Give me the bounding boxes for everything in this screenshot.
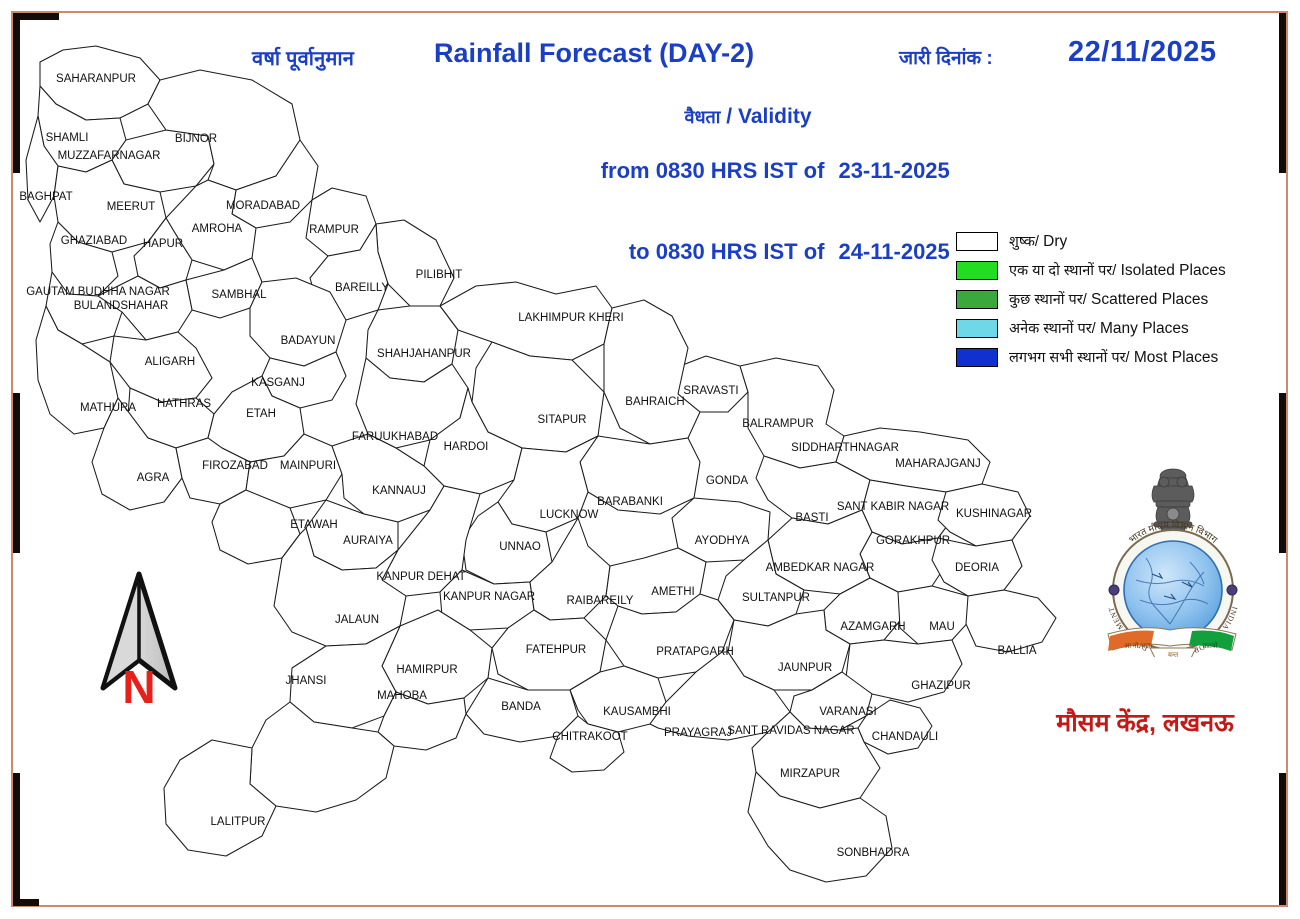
legend-row: एक या दो स्थानों पर/ Isolated Places <box>956 257 1286 283</box>
district-label: MIRZAPUR <box>780 768 840 780</box>
district-label: DEORIA <box>955 562 999 574</box>
legend-swatch <box>956 261 998 280</box>
legend-swatch <box>956 348 998 367</box>
legend-label: कुछ स्थानों पर/ Scattered Places <box>1009 289 1208 309</box>
district-label: SHAMLI <box>46 132 89 144</box>
district-label: CHANDAULI <box>872 731 938 743</box>
district-label: BARABANKI <box>597 496 663 508</box>
district-label: CHITRAKOOT <box>552 731 627 743</box>
district-label: LALITPUR <box>211 816 266 828</box>
legend-label-english: Many Places <box>1096 320 1189 337</box>
district-label: SIDDHARTHNAGAR <box>791 442 899 454</box>
district-label: MORADABAD <box>226 200 300 212</box>
validity-label-english: Validity <box>738 105 812 128</box>
legend-label-english: Most Places <box>1130 349 1219 366</box>
district-label: SAMBHAL <box>212 289 268 301</box>
district-label: JALAUN <box>335 614 379 626</box>
district-label: BADAYUN <box>281 335 336 347</box>
district-label: HAPUR <box>143 238 183 250</box>
district-label: GAUTAM BUDHHA NAGAR <box>26 286 170 298</box>
district-label: LUCKNOW <box>540 509 599 521</box>
validity-from-date: 23-11-2025 <box>824 158 1028 184</box>
district-label: JAUNPUR <box>778 662 832 674</box>
district-label: JHANSI <box>286 675 327 687</box>
district-label: MAHOBA <box>377 690 427 702</box>
district-label: BALLIA <box>998 645 1037 657</box>
legend-swatch <box>956 290 998 309</box>
page-title-hindi: वर्षा पूर्वानुमान <box>252 44 354 71</box>
validity-to-row: to 0830 HRS IST of24-11-2025 <box>500 213 1020 291</box>
district-label: BANDA <box>501 701 541 713</box>
district-label: BULANDSHAHAR <box>74 300 169 312</box>
district-label: MAHARAJGANJ <box>895 458 981 470</box>
district-label: SONBHADRA <box>837 847 910 859</box>
district-label: PRATAPGARH <box>656 646 734 658</box>
district-label: KANPUR DEHAT <box>376 571 465 583</box>
district-label: GONDA <box>706 475 749 487</box>
district-label: MAINPURI <box>280 460 336 472</box>
district-label: KANPUR NAGAR <box>443 591 535 603</box>
district-label: AYODHYA <box>695 535 750 547</box>
svg-text:क्रतवो: क्रतवो <box>1202 641 1217 650</box>
district-label: RAIBAREILY <box>567 595 634 607</box>
district-label: PILIBHIT <box>416 269 463 281</box>
validity-title: वैधता / Validity <box>476 105 1020 129</box>
district-label: AURAIYA <box>343 535 393 547</box>
district-label: UNNAO <box>499 541 541 553</box>
district-label: BASTI <box>795 512 828 524</box>
district-label: SANT RAVIDAS NAGAR <box>727 725 854 737</box>
district-label: RAMPUR <box>309 224 359 236</box>
north-arrow-label: N <box>96 660 182 714</box>
legend-label-english: Isolated Places <box>1116 262 1225 279</box>
district-label: KANNAUJ <box>372 485 426 497</box>
district-label: GHAZIPUR <box>911 680 970 692</box>
district-label: AZAMGARH <box>840 621 905 633</box>
district-label: FIROZABAD <box>202 460 268 472</box>
district-label: SULTANPUR <box>742 592 810 604</box>
issued-date-value: 22/11/2025 <box>1068 36 1217 69</box>
district-label: HAMIRPUR <box>396 664 457 676</box>
page-title-english: Rainfall Forecast (DAY-2) <box>434 38 754 69</box>
district-label: MEERUT <box>107 201 156 213</box>
district-label: KAUSAMBHI <box>603 706 671 718</box>
validity-block: वैधता / Validity from 0830 HRS IST of23-… <box>500 105 1020 291</box>
legend-label-english: Scattered Places <box>1087 291 1208 308</box>
legend-label: लगभग सभी स्थानों पर/ Most Places <box>1009 347 1218 367</box>
district-label: AMROHA <box>192 223 243 235</box>
legend-label: एक या दो स्थानों पर/ Isolated Places <box>1009 260 1226 280</box>
district-label: BAGHPAT <box>19 191 72 203</box>
district-label: SANT KABIR NAGAR <box>837 501 949 513</box>
imd-emblem-logo: सत्यमेव जयते भारत मौसम विज्ञान विभाग IND… <box>1078 462 1268 657</box>
legend: शुष्क/ Dryएक या दो स्थानों पर/ Isolated … <box>956 228 1286 373</box>
validity-from-row: from 0830 HRS IST of23-11-2025 <box>500 132 1020 210</box>
district-label: KUSHINAGAR <box>956 508 1032 520</box>
legend-label-hindi: अनेक स्थानों पर/ <box>1009 321 1096 337</box>
legend-label: अनेक स्थानों पर/ Many Places <box>1009 318 1189 338</box>
district-label: GHAZIABAD <box>61 235 127 247</box>
district-label: LAKHIMPUR KHERI <box>518 312 623 324</box>
validity-separator: / <box>720 105 738 128</box>
district-label: BIJNOR <box>175 133 217 145</box>
legend-label-hindi: शुष्क/ <box>1009 234 1039 250</box>
district-label: ETAWAH <box>290 519 338 531</box>
district-label: MATHURA <box>80 402 136 414</box>
district-label: BAHRAICH <box>625 396 684 408</box>
validity-label-hindi: वैधता <box>684 107 720 127</box>
district-label: AMBEDKAR NAGAR <box>766 562 875 574</box>
legend-label-hindi: कुछ स्थानों पर/ <box>1009 292 1087 308</box>
district-label: FARUUKHABAD <box>352 431 438 443</box>
validity-to-label: to 0830 HRS IST of <box>524 239 824 265</box>
district-label: HATHRAS <box>157 398 211 410</box>
district-label: ETAH <box>246 408 276 420</box>
district-label: KASGANJ <box>251 377 305 389</box>
district-label: HARDOI <box>444 441 489 453</box>
district-label: SITAPUR <box>538 414 587 426</box>
legend-label-hindi: एक या दो स्थानों पर/ <box>1009 263 1116 279</box>
district-label: MUZZAFARNAGAR <box>58 150 161 162</box>
district-label: BAREILLY <box>335 282 389 294</box>
legend-row: कुछ स्थानों पर/ Scattered Places <box>956 286 1286 312</box>
legend-swatch <box>956 319 998 338</box>
legend-label-english: Dry <box>1039 233 1067 250</box>
district-label: GORAKHPUR <box>876 535 950 547</box>
district-label: ALIGARH <box>145 356 196 368</box>
svg-text:यन्तु: यन्तु <box>1168 651 1179 657</box>
district-label: VARANASI <box>819 706 876 718</box>
district-label: SHAHJAHANPUR <box>377 348 471 360</box>
district-label: MAU <box>929 621 955 633</box>
legend-label: शुष्क/ Dry <box>1009 231 1067 251</box>
legend-row: अनेक स्थानों पर/ Many Places <box>956 315 1286 341</box>
district-label: SRAVASTI <box>683 385 738 397</box>
district-label: FATEHPUR <box>526 644 587 656</box>
district-label: PRAYAGRAJ <box>664 727 732 739</box>
district-label: BALRAMPUR <box>742 418 814 430</box>
issued-date-label: जारी दिनांक : <box>899 44 993 70</box>
svg-text:आ नो भद्राः: आ नो भद्राः <box>1124 641 1153 650</box>
validity-from-label: from 0830 HRS IST of <box>524 158 824 184</box>
district-label: AMETHI <box>651 586 694 598</box>
district-label: AGRA <box>137 472 170 484</box>
legend-label-hindi: लगभग सभी स्थानों पर/ <box>1009 350 1130 366</box>
legend-row: लगभग सभी स्थानों पर/ Most Places <box>956 344 1286 370</box>
legend-swatch <box>956 232 998 251</box>
legend-row: शुष्क/ Dry <box>956 228 1286 254</box>
issuing-office-label: मौसम केंद्र, लखनऊ <box>1020 705 1270 739</box>
